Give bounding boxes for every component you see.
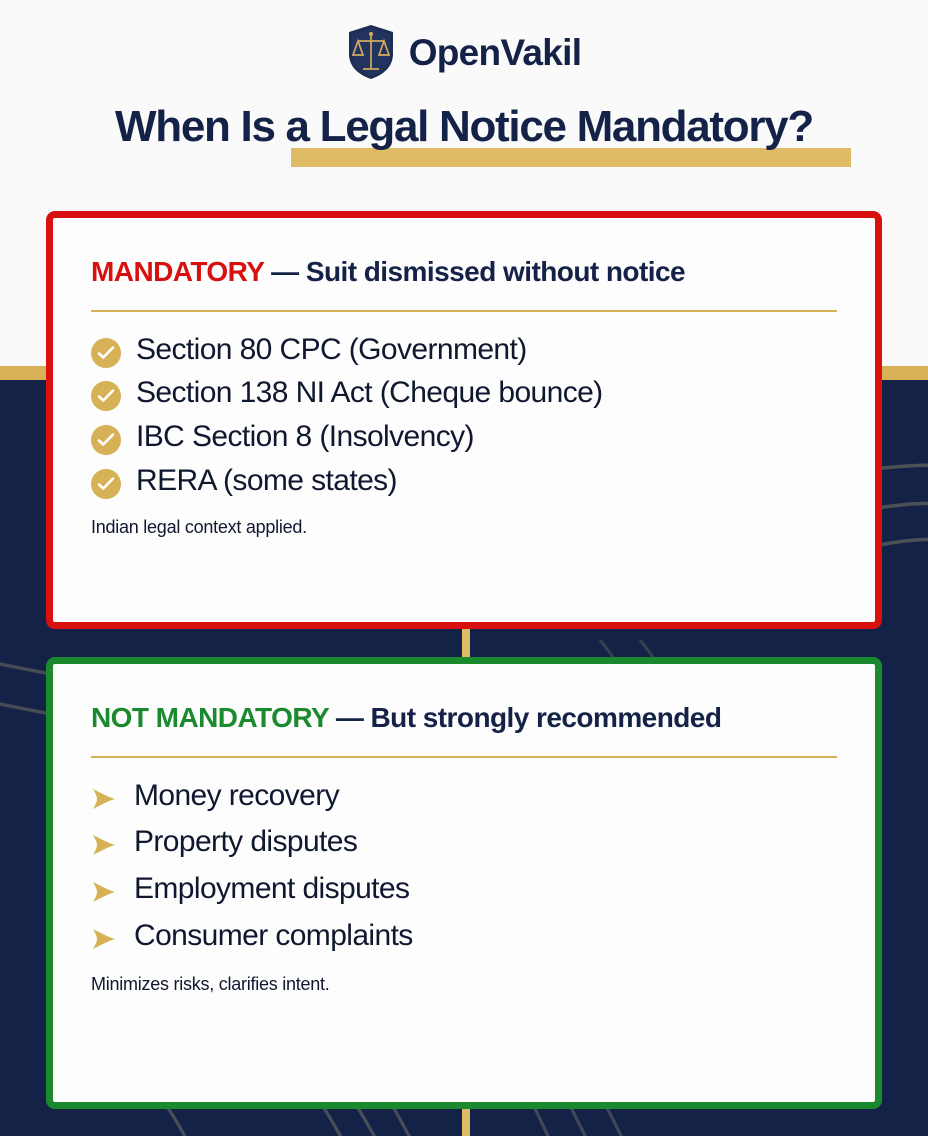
card-mandatory-subheading: Suit dismissed without notice bbox=[306, 256, 685, 287]
check-circle-icon bbox=[91, 381, 121, 411]
card-mandatory: MANDATORY — Suit dismissed without notic… bbox=[46, 211, 882, 629]
arrow-right-icon bbox=[91, 787, 117, 813]
page-header: OpenVakil When Is a Legal Notice Mandato… bbox=[0, 0, 928, 151]
status-badge-not-mandatory: NOT MANDATORY bbox=[91, 702, 329, 733]
arrow-right-icon bbox=[91, 833, 117, 859]
check-circle-icon bbox=[91, 338, 121, 368]
list-item: Money recovery bbox=[91, 778, 837, 815]
check-circle-icon bbox=[91, 469, 121, 499]
card-mandatory-rule bbox=[91, 310, 837, 312]
shield-scales-icon bbox=[347, 24, 395, 80]
list-item: Employment disputes bbox=[91, 871, 837, 908]
card-not-mandatory-rule bbox=[91, 756, 837, 758]
card-mandatory-list: Section 80 CPC (Government) Section 138 … bbox=[91, 332, 837, 499]
list-item-label: IBC Section 8 (Insolvency) bbox=[136, 419, 474, 456]
list-item: RERA (some states) bbox=[91, 463, 837, 500]
card-mandatory-heading: MANDATORY — Suit dismissed without notic… bbox=[91, 252, 837, 292]
list-item-label: RERA (some states) bbox=[136, 463, 397, 500]
list-item: IBC Section 8 (Insolvency) bbox=[91, 419, 837, 456]
list-item-label: Section 80 CPC (Government) bbox=[136, 332, 527, 369]
page-title: When Is a Legal Notice Mandatory? bbox=[28, 104, 900, 151]
arrow-right-icon bbox=[91, 927, 117, 953]
list-item-label: Consumer complaints bbox=[134, 918, 413, 955]
card-not-mandatory: NOT MANDATORY — But strongly recommended… bbox=[46, 657, 882, 1109]
brand-name: OpenVakil bbox=[409, 34, 582, 71]
page-title-wrap: When Is a Legal Notice Mandatory? bbox=[0, 104, 928, 151]
check-circle-icon bbox=[91, 425, 121, 455]
heading-dash: — bbox=[336, 702, 363, 733]
heading-dash: — bbox=[271, 256, 298, 287]
list-item-label: Employment disputes bbox=[134, 871, 409, 908]
list-item: Property disputes bbox=[91, 824, 837, 861]
card-not-mandatory-subheading: But strongly recommended bbox=[371, 702, 722, 733]
list-item: Section 80 CPC (Government) bbox=[91, 332, 837, 369]
list-item: Section 138 NI Act (Cheque bounce) bbox=[91, 375, 837, 412]
list-item: Consumer complaints bbox=[91, 918, 837, 955]
card-not-mandatory-heading: NOT MANDATORY — But strongly recommended bbox=[91, 698, 837, 738]
list-item-label: Section 138 NI Act (Cheque bounce) bbox=[136, 375, 603, 412]
status-badge-mandatory: MANDATORY bbox=[91, 256, 264, 287]
brand-lockup: OpenVakil bbox=[0, 0, 928, 80]
card-not-mandatory-list: Money recovery Property disputes Employm… bbox=[91, 778, 837, 954]
card-mandatory-note: Indian legal context applied. bbox=[91, 517, 837, 538]
list-item-label: Property disputes bbox=[134, 824, 357, 861]
list-item-label: Money recovery bbox=[134, 778, 339, 815]
card-not-mandatory-note: Minimizes risks, clarifies intent. bbox=[91, 974, 837, 995]
arrow-right-icon bbox=[91, 880, 117, 906]
